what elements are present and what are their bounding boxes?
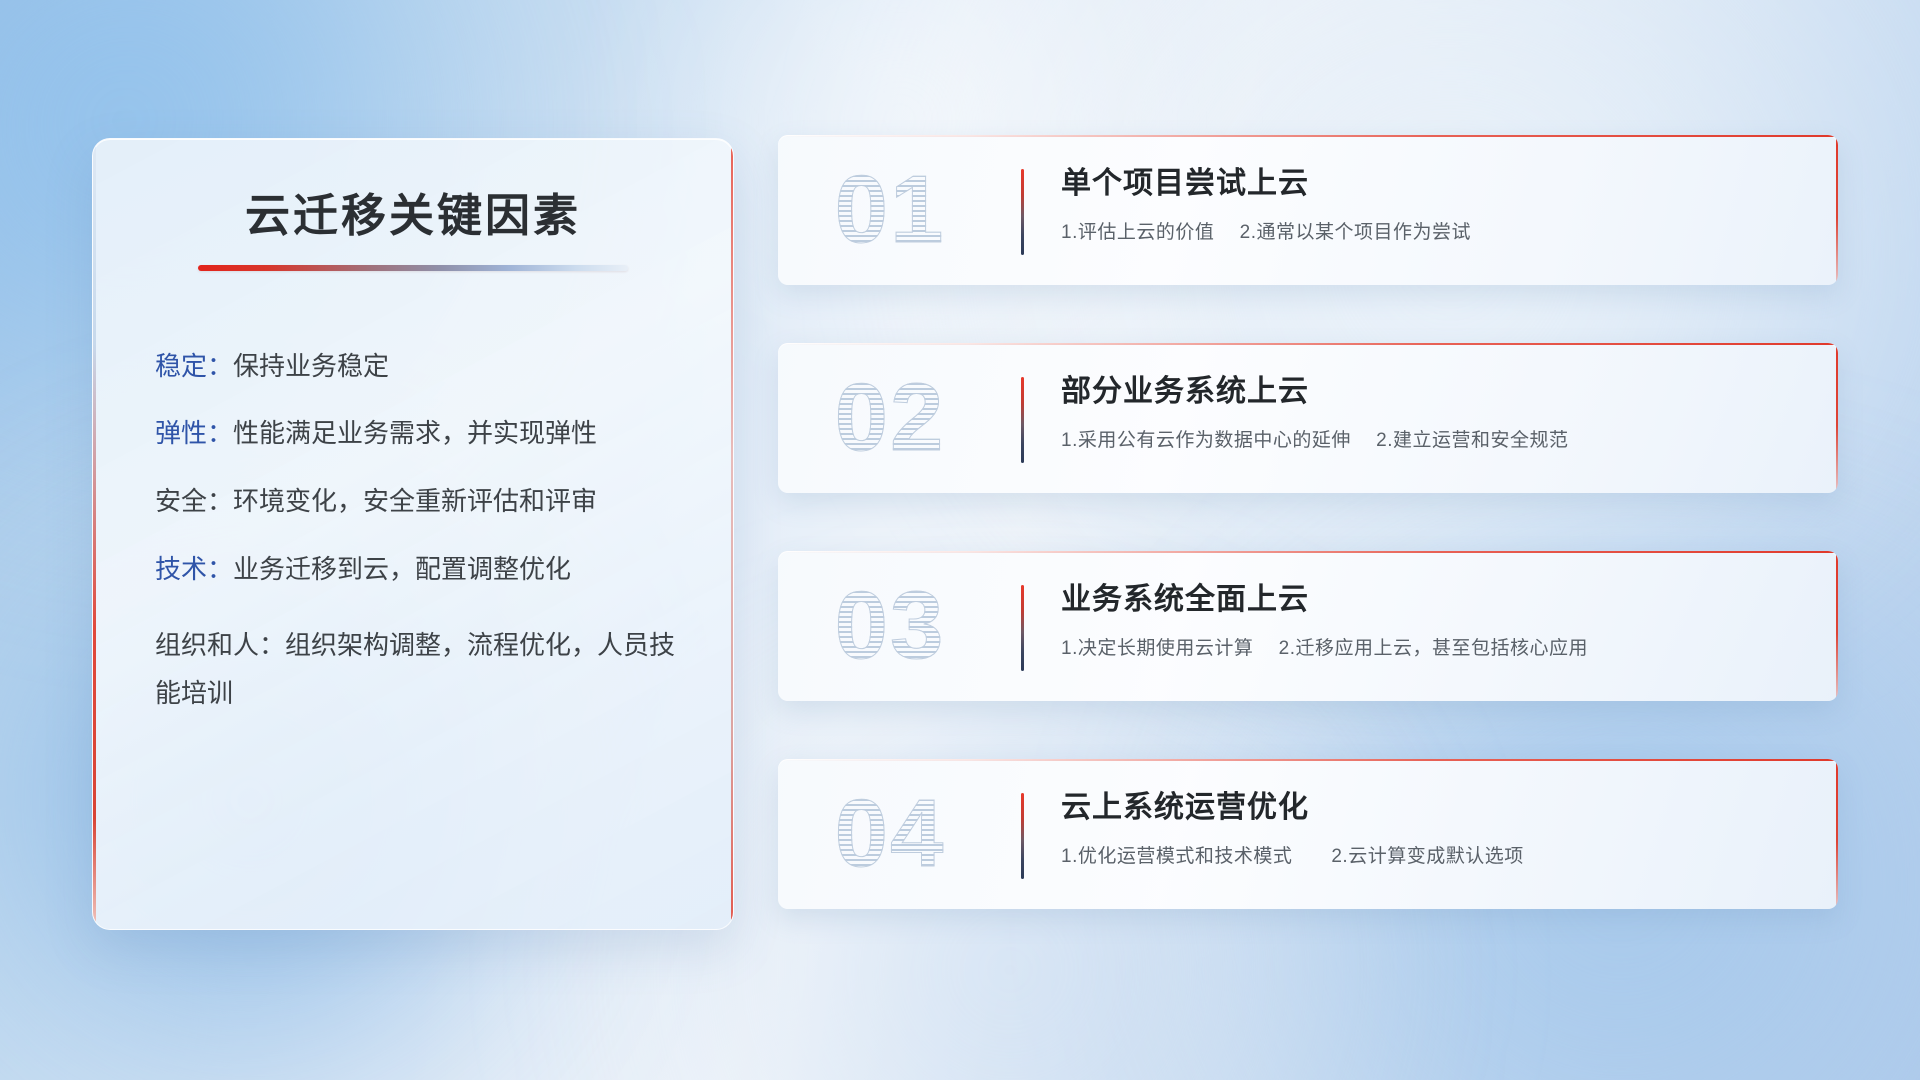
list-item: 稳定：保持业务稳定: [155, 351, 677, 383]
step-content: 业务系统全面上云 1.决定长期使用云计算 2.迁移应用上云，甚至包括核心应用: [1061, 581, 1798, 660]
factor-label: 安全：: [155, 486, 233, 516]
factor-label: 技术：: [155, 554, 233, 584]
factor-text: 性能满足业务需求，并实现弹性: [233, 418, 597, 448]
step-number-02: 02: [806, 357, 974, 479]
factor-label: 稳定：: [155, 351, 233, 381]
step-number-04: 04: [806, 773, 974, 895]
factor-text: 业务迁移到云，配置调整优化: [233, 554, 571, 584]
migration-steps-list: 01 单个项目尝试上云 1.评估上云的价值 2.通常以某个项目作为尝试 02 部…: [778, 135, 1838, 967]
list-item: 弹性：性能满足业务需求，并实现弹性: [155, 418, 677, 450]
step-card-01[interactable]: 01 单个项目尝试上云 1.评估上云的价值 2.通常以某个项目作为尝试: [778, 135, 1838, 285]
key-factors-panel-inner: 云迁移关键因素 稳定：保持业务稳定 弹性：性能满足业务需求，并实现弹性 安全：环…: [93, 139, 733, 718]
step-title: 部分业务系统上云: [1061, 373, 1798, 411]
step-description: 1.优化运营模式和技术模式 2.云计算变成默认选项: [1061, 841, 1798, 868]
step-divider-bar: [1021, 585, 1024, 671]
list-item: 安全：环境变化，安全重新评估和评审: [155, 486, 677, 518]
step-content: 单个项目尝试上云 1.评估上云的价值 2.通常以某个项目作为尝试: [1061, 165, 1798, 244]
factor-text: 环境变化，安全重新评估和评审: [233, 486, 597, 516]
slide-stage: 云迁移关键因素 稳定：保持业务稳定 弹性：性能满足业务需求，并实现弹性 安全：环…: [0, 0, 1920, 1080]
step-title: 云上系统运营优化: [1061, 789, 1798, 827]
factor-text: 保持业务稳定: [233, 351, 389, 381]
key-factors-panel: 云迁移关键因素 稳定：保持业务稳定 弹性：性能满足业务需求，并实现弹性 安全：环…: [92, 138, 734, 930]
step-content: 部分业务系统上云 1.采用公有云作为数据中心的延伸 2.建立运营和安全规范: [1061, 373, 1798, 452]
step-divider-bar: [1021, 169, 1024, 255]
step-card-04[interactable]: 04 云上系统运营优化 1.优化运营模式和技术模式 2.云计算变成默认选项: [778, 759, 1838, 909]
step-divider-bar: [1021, 377, 1024, 463]
factor-label: 弹性：: [155, 418, 233, 448]
step-content: 云上系统运营优化 1.优化运营模式和技术模式 2.云计算变成默认选项: [1061, 789, 1798, 868]
step-description: 1.采用公有云作为数据中心的延伸 2.建立运营和安全规范: [1061, 425, 1798, 452]
step-card-02[interactable]: 02 部分业务系统上云 1.采用公有云作为数据中心的延伸 2.建立运营和安全规范: [778, 343, 1838, 493]
step-divider-bar: [1021, 793, 1024, 879]
title-underline-gradient: [198, 265, 628, 271]
list-item: 技术：业务迁移到云，配置调整优化: [155, 554, 677, 586]
step-title: 单个项目尝试上云: [1061, 165, 1798, 203]
factor-label: 组织和人：: [155, 630, 285, 660]
step-number-03: 03: [806, 565, 974, 687]
step-description: 1.评估上云的价值 2.通常以某个项目作为尝试: [1061, 217, 1798, 244]
step-number-01: 01: [806, 149, 974, 271]
step-card-03[interactable]: 03 业务系统全面上云 1.决定长期使用云计算 2.迁移应用上云，甚至包括核心应…: [778, 551, 1838, 701]
list-item: 组织和人：组织架构调整，流程优化，人员技能培训: [155, 621, 677, 717]
key-factors-list: 稳定：保持业务稳定 弹性：性能满足业务需求，并实现弹性 安全：环境变化，安全重新…: [149, 351, 677, 718]
step-title: 业务系统全面上云: [1061, 581, 1798, 619]
step-description: 1.决定长期使用云计算 2.迁移应用上云，甚至包括核心应用: [1061, 633, 1798, 660]
page-title: 云迁移关键因素: [149, 191, 677, 241]
